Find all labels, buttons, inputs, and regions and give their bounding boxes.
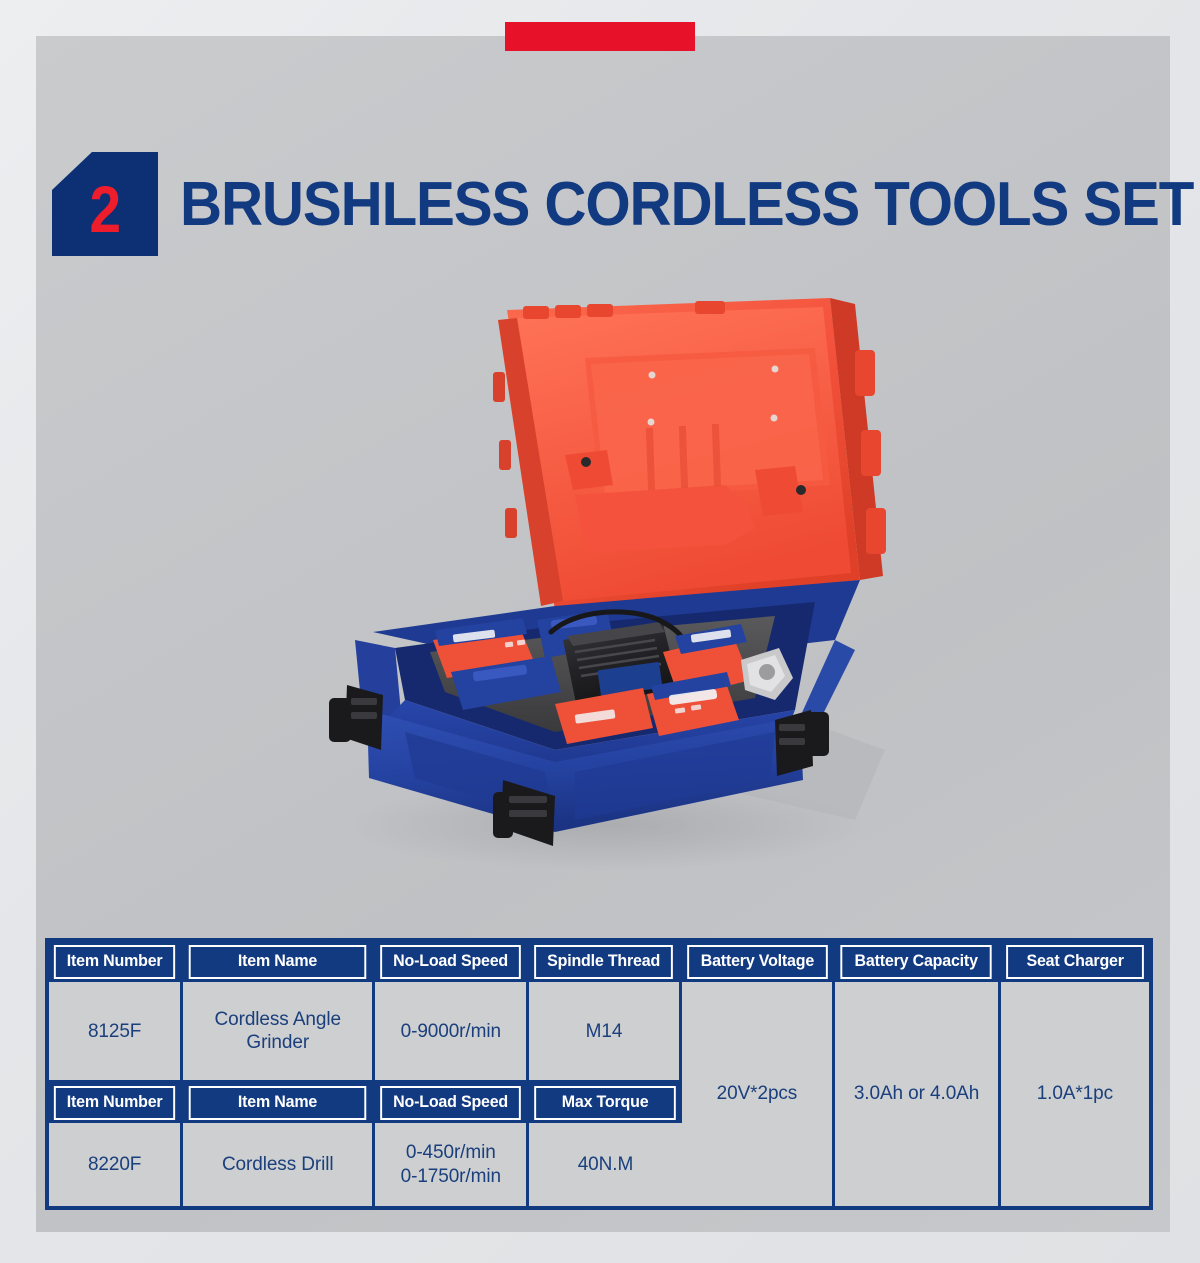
section-number-badge: 2 <box>52 152 158 256</box>
header-label: Item Name <box>189 1086 366 1120</box>
cell-item-name: Cordless Angle Grinder <box>183 982 375 1080</box>
cell-seat-charger: 1.0A*1pc <box>1001 982 1149 1206</box>
cell-no-load-speed: 0-9000r/min <box>375 982 529 1080</box>
header-cell-item-name-1: Item Name <box>183 942 375 982</box>
section-number: 2 <box>90 176 121 242</box>
table-header-row-1: Item Number Item Name No-Load Speed Spin… <box>49 942 1149 982</box>
header-label: Spindle Thread <box>535 945 674 979</box>
top-red-banner <box>505 22 695 51</box>
cell-item-number: 8220F <box>49 1123 183 1205</box>
page-title: BRUSHLESS CORDLESS TOOLS SET <box>180 152 1193 256</box>
no-load-speed-line-1: 0-450r/min <box>381 1141 520 1164</box>
header-cell-no-load-speed-2: No-Load Speed <box>375 1080 529 1123</box>
header-cell-no-load-speed-1: No-Load Speed <box>375 942 529 982</box>
no-load-speed-line-2: 0-1750r/min <box>381 1165 520 1188</box>
header-label: Battery Capacity <box>841 945 993 979</box>
product-image <box>255 280 895 880</box>
header-cell-item-name-2: Item Name <box>183 1080 375 1123</box>
header-label: Max Torque <box>535 1086 677 1120</box>
cell-item-number: 8125F <box>49 982 183 1080</box>
header-cell-max-torque: Max Torque <box>529 1080 681 1123</box>
header-label: No-Load Speed <box>380 1086 521 1120</box>
header-cell-item-number-2: Item Number <box>49 1080 183 1123</box>
cell-no-load-speed: 0-450r/min 0-1750r/min <box>375 1123 529 1205</box>
header-label: Item Name <box>189 945 366 979</box>
header-label: Item Number <box>54 945 175 979</box>
cell-battery-capacity: 3.0Ah or 4.0Ah <box>835 982 1000 1206</box>
header-label: Seat Charger <box>1006 945 1144 979</box>
header-cell-battery-voltage: Battery Voltage <box>682 942 836 982</box>
cell-max-torque: 40N.M <box>529 1123 681 1205</box>
section-header: 2 BRUSHLESS CORDLESS TOOLS SET <box>52 152 1200 256</box>
header-cell-spindle-thread: Spindle Thread <box>529 942 681 982</box>
header-cell-item-number-1: Item Number <box>49 942 183 982</box>
header-label: Battery Voltage <box>687 945 827 979</box>
cell-item-name: Cordless Drill <box>183 1123 375 1205</box>
cell-battery-voltage: 20V*2pcs <box>682 982 836 1206</box>
product-detail-page: 2 BRUSHLESS CORDLESS TOOLS SET <box>0 0 1200 1263</box>
header-cell-seat-charger: Seat Charger <box>1001 942 1149 982</box>
table-row: 8125F Cordless Angle Grinder 0-9000r/min… <box>49 982 1149 1080</box>
header-cell-battery-capacity: Battery Capacity <box>835 942 1000 982</box>
header-label: No-Load Speed <box>380 945 521 979</box>
specification-table: Item Number Item Name No-Load Speed Spin… <box>45 938 1153 1210</box>
cell-spindle-thread: M14 <box>529 982 681 1080</box>
header-label: Item Number <box>54 1086 175 1120</box>
